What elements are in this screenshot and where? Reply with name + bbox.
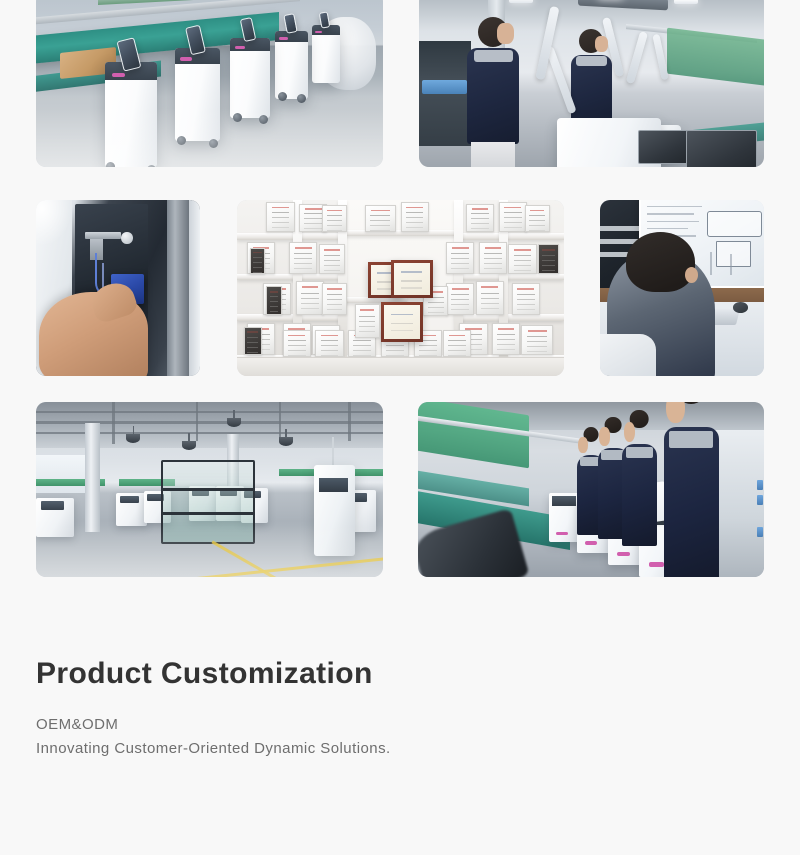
certificate (355, 304, 380, 338)
device-screen (283, 13, 297, 34)
photo-scene-certificate-wall (237, 200, 564, 376)
worker-face (595, 36, 608, 52)
certificate (443, 330, 471, 357)
photo-scene-cad-workstation (600, 200, 764, 376)
photo-scene-arm-assembly (419, 0, 764, 167)
certificate (283, 330, 311, 357)
floor-reflection (36, 108, 383, 168)
device-screen (318, 11, 330, 28)
certificate (266, 286, 281, 314)
worker (467, 48, 519, 144)
gallery-image-production-team[interactable] (418, 402, 764, 577)
equipment-cart (116, 493, 147, 526)
page-title: Product Customization (36, 655, 736, 693)
office-chair (600, 334, 656, 376)
ceiling-lamp (227, 418, 241, 427)
light-glow (36, 200, 72, 246)
worker-collar (474, 50, 513, 63)
certificate (289, 242, 317, 274)
certificate (476, 281, 504, 315)
certificate (322, 205, 347, 232)
certificate (322, 283, 347, 315)
certificate (319, 244, 346, 274)
mouse (733, 302, 748, 313)
metal-bracket (85, 232, 121, 239)
worker-trousers (471, 142, 514, 167)
chassis-rail (167, 200, 190, 376)
device-unit (549, 493, 580, 542)
device-cart (275, 31, 308, 99)
worker-collar (576, 56, 607, 66)
gallery-image-factory-floor[interactable] (36, 402, 383, 577)
certificate (296, 281, 324, 315)
worker (622, 444, 657, 546)
photo-scene-assembly-line (36, 0, 383, 167)
subtitle-line-tagline: Innovating Customer-Oriented Dynamic Sol… (36, 737, 736, 762)
certificate (250, 248, 265, 275)
storage-rack (419, 41, 471, 146)
parts-bin (422, 80, 467, 94)
certificate (508, 244, 536, 274)
internal-knob (121, 232, 132, 244)
floor-reflection (36, 525, 383, 578)
photo-scene-production-team (418, 402, 764, 577)
window (36, 455, 92, 494)
photo-scene-wiring (36, 200, 200, 376)
certificate (266, 202, 294, 232)
certificate (365, 205, 396, 232)
certificate (446, 283, 474, 315)
green-shelf-panel (418, 402, 529, 467)
certificate (492, 323, 520, 355)
device-cart (230, 38, 270, 119)
certificate (499, 202, 527, 232)
equipment-case (686, 130, 757, 167)
base-cabinet (237, 357, 564, 376)
ceiling-lamp (279, 437, 293, 446)
certificate (479, 242, 507, 274)
device-cart (312, 25, 340, 83)
product-customization-section: Product Customization OEM&ODM Innovating… (36, 655, 736, 762)
certificate (525, 205, 550, 232)
subtitle-line-oem-odm: OEM&ODM (36, 713, 736, 738)
engineer-head (626, 232, 695, 292)
structural-column (85, 423, 101, 532)
worker-collar (626, 447, 654, 458)
worker-collar (669, 431, 713, 448)
gallery-image-cad-engineer[interactable] (600, 200, 764, 376)
photo-scene-factory-floor (36, 402, 383, 577)
certificate (512, 283, 540, 315)
worker (664, 427, 719, 578)
factory-photo-gallery (0, 0, 800, 600)
gallery-image-arm-assembly[interactable] (419, 0, 764, 167)
certificate (244, 327, 262, 355)
worker-face (578, 437, 587, 453)
worker-face (624, 422, 636, 442)
certificate (446, 242, 474, 274)
gallery-image-assembly-line-carts[interactable] (36, 0, 383, 167)
worker-face (599, 427, 610, 445)
articulated-arm (626, 30, 648, 83)
framed-certificate (381, 302, 423, 341)
gallery-image-wiring-closeup[interactable] (36, 200, 200, 376)
certificate (466, 204, 494, 232)
certificate (315, 330, 343, 357)
certificate (401, 202, 429, 232)
certificate (521, 325, 552, 355)
ceiling-lamp (182, 441, 196, 450)
worker-face (497, 23, 514, 44)
subtitle-group: OEM&ODM Innovating Customer-Oriented Dyn… (36, 713, 736, 763)
ceiling-lamp (126, 434, 140, 443)
chassis-edge (189, 200, 200, 376)
framed-certificate (391, 260, 433, 298)
gallery-image-certificate-wall[interactable] (237, 200, 564, 376)
certificate (538, 244, 560, 274)
